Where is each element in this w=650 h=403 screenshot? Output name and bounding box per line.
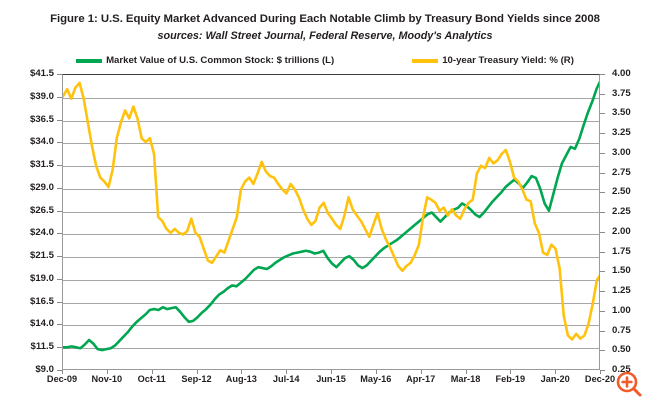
y-right-tick <box>600 350 605 351</box>
y-left-tick-label: $34.0 <box>30 137 54 147</box>
x-tick <box>331 370 332 374</box>
y-right-tick-label: 3.75 <box>612 89 631 99</box>
y-left-tick-label: $11.5 <box>31 342 54 352</box>
y-right-tick <box>600 271 605 272</box>
y-left-tick-label: $41.5 <box>30 69 54 79</box>
x-tick <box>241 370 242 374</box>
y-right-tick-label: 0.75 <box>612 326 631 336</box>
x-tick <box>286 370 287 374</box>
legend-swatch-yield <box>412 59 438 63</box>
x-tick <box>510 370 511 374</box>
x-tick <box>152 370 153 374</box>
y-right-tick <box>600 173 605 174</box>
y-left-tick-label: $19.0 <box>30 274 54 284</box>
chart-legend: Market Value of U.S. Common Stock: $ tri… <box>0 55 650 66</box>
y-right-tick-label: 3.00 <box>612 148 631 158</box>
y-right-tick-label: 2.75 <box>612 168 631 178</box>
y-left-tick-label: $36.5 <box>30 115 54 125</box>
plot-area <box>62 74 600 370</box>
legend-label-equity: Market Value of U.S. Common Stock: $ tri… <box>106 55 334 66</box>
y-right-tick-label: 2.50 <box>612 187 631 197</box>
x-tick <box>62 370 63 374</box>
y-left-tick <box>57 97 62 98</box>
x-tick <box>107 370 108 374</box>
y-left-tick-label: $39.0 <box>30 92 54 102</box>
x-tick-label: Dec-09 <box>47 375 77 384</box>
y-right-tick-label: 4.00 <box>612 69 631 79</box>
figure-container: Figure 1: U.S. Equity Market Advanced Du… <box>0 0 650 403</box>
y-right-tick-label: 1.00 <box>612 306 631 316</box>
series-line-yield <box>63 83 600 340</box>
y-right-tick <box>600 74 605 75</box>
legend-item-equity[interactable]: Market Value of U.S. Common Stock: $ tri… <box>76 55 334 66</box>
series-line-equity <box>63 80 600 351</box>
y-right-tick-label: 3.50 <box>612 108 631 118</box>
x-tick-label: Jun-15 <box>316 375 346 384</box>
x-tick-label: Jul-14 <box>273 375 300 384</box>
x-tick <box>197 370 198 374</box>
x-tick <box>600 370 601 374</box>
y-right-tick-label: 2.25 <box>612 207 631 217</box>
y-right-tick <box>600 331 605 332</box>
y-left-tick-label: $31.5 <box>30 160 54 170</box>
y-right-tick <box>600 192 605 193</box>
y-right-tick <box>600 311 605 312</box>
y-right-tick <box>600 113 605 114</box>
x-tick-label: Mar-18 <box>451 375 481 384</box>
x-tick-label: Oct-11 <box>138 375 166 384</box>
y-right-tick-label: 1.25 <box>612 286 631 296</box>
y-left-tick <box>57 120 62 121</box>
y-left-tick <box>57 211 62 212</box>
x-tick-label: Jan-20 <box>541 375 570 384</box>
y-left-tick-label: $14.0 <box>30 319 54 329</box>
y-left-tick <box>57 279 62 280</box>
legend-item-yield[interactable]: 10-year Treasury Yield: % (R) <box>412 55 574 66</box>
y-left-tick <box>57 142 62 143</box>
y-left-tick <box>57 233 62 234</box>
x-tick-label: Aug-13 <box>226 375 257 384</box>
x-tick-label: May-16 <box>360 375 391 384</box>
legend-label-yield: 10-year Treasury Yield: % (R) <box>442 55 574 66</box>
y-right-tick-label: 1.50 <box>612 266 631 276</box>
y-left-tick-label: $21.5 <box>30 251 54 261</box>
x-tick-label: Nov-10 <box>92 375 123 384</box>
y-left-tick <box>57 188 62 189</box>
x-tick-label: Sep-12 <box>181 375 211 384</box>
series-layer <box>63 75 600 370</box>
legend-swatch-equity <box>76 59 102 63</box>
y-right-tick-label: 3.25 <box>612 128 631 138</box>
y-left-tick <box>57 324 62 325</box>
y-right-tick <box>600 232 605 233</box>
y-left-tick-label: $24.0 <box>30 228 54 238</box>
y-left-tick <box>57 302 62 303</box>
x-tick <box>421 370 422 374</box>
y-left-tick-label: $16.5 <box>30 297 54 307</box>
y-right-tick-label: 1.75 <box>612 247 631 257</box>
figure-subtitle: sources: Wall Street Journal, Federal Re… <box>0 30 650 42</box>
x-tick <box>555 370 556 374</box>
x-tick-label: Dec-20 <box>585 375 615 384</box>
y-left-tick-label: $29.0 <box>30 183 54 193</box>
figure-title: Figure 1: U.S. Equity Market Advanced Du… <box>0 13 650 25</box>
y-right-tick <box>600 94 605 95</box>
y-right-tick <box>600 133 605 134</box>
y-left-tick <box>57 165 62 166</box>
y-right-tick <box>600 291 605 292</box>
y-right-tick-label: 0.50 <box>612 345 631 355</box>
x-tick-label: Feb-19 <box>496 375 526 384</box>
y-right-tick <box>600 153 605 154</box>
x-tick <box>466 370 467 374</box>
x-tick-label: Apr-17 <box>406 375 435 384</box>
y-right-tick <box>600 252 605 253</box>
y-right-tick-label: 2.00 <box>612 227 631 237</box>
y-left-tick <box>57 256 62 257</box>
y-left-tick <box>57 347 62 348</box>
y-left-tick <box>57 74 62 75</box>
y-right-tick <box>600 212 605 213</box>
x-tick <box>376 370 377 374</box>
y-left-tick-label: $26.5 <box>30 206 54 216</box>
